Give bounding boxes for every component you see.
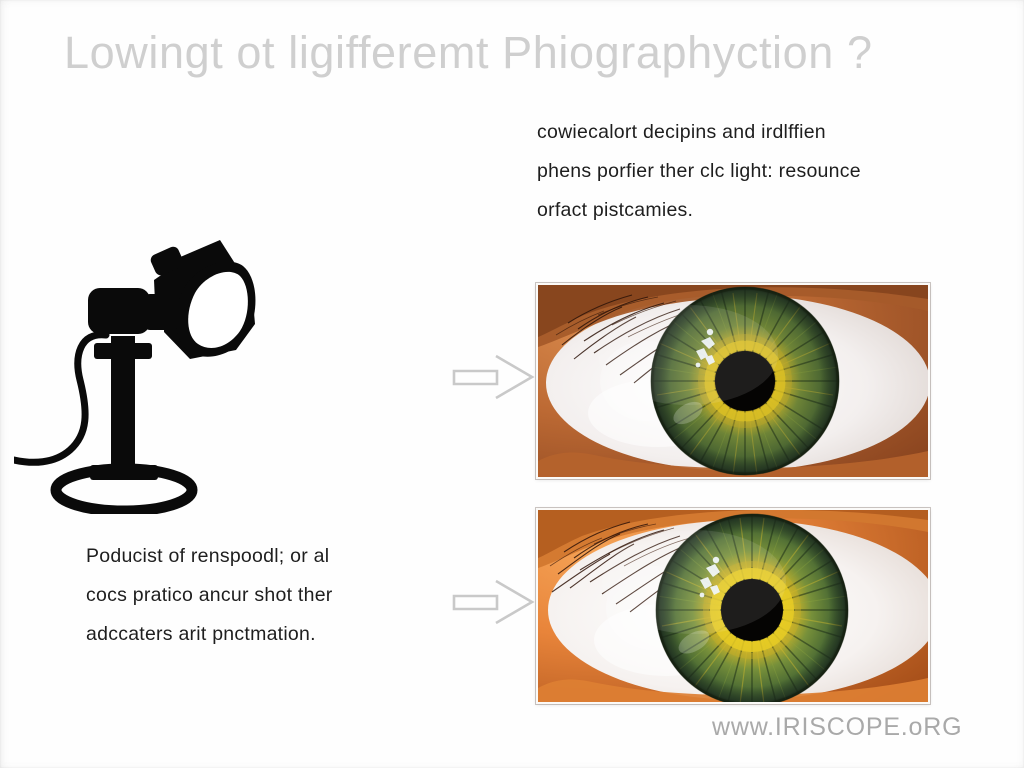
paragraph-line: orfact pistcamies. [537, 191, 957, 230]
description-paragraph-top: cowiecalort decipins and irdlffien phens… [537, 113, 957, 230]
eye-photo-warm-light [536, 508, 930, 704]
paragraph-line: Poducist of renspoodl; or al [86, 537, 436, 576]
paragraph-line: cocs pratico ancur shot ther [86, 576, 436, 615]
page-title: Lowingt ot ligifferemt Phiographyction ? [64, 27, 964, 79]
poster-canvas: Lowingt ot ligifferemt Phiographyction ? [0, 0, 1024, 768]
arrow-right-icon [450, 352, 536, 402]
paragraph-line: adccaters arit pnctmation. [86, 615, 436, 654]
description-paragraph-bottom: Poducist of renspoodl; or al cocs pratic… [86, 537, 436, 654]
eye-photo-neutral-light [536, 283, 930, 479]
studio-lamp-icon [14, 228, 264, 514]
arrow-right-icon [450, 577, 536, 627]
website-url: www.IRISCOPE.oRG [712, 713, 962, 742]
paragraph-line: phens porfier ther clc light: resounce [537, 152, 957, 191]
paragraph-line: cowiecalort decipins and irdlffien [537, 113, 957, 152]
